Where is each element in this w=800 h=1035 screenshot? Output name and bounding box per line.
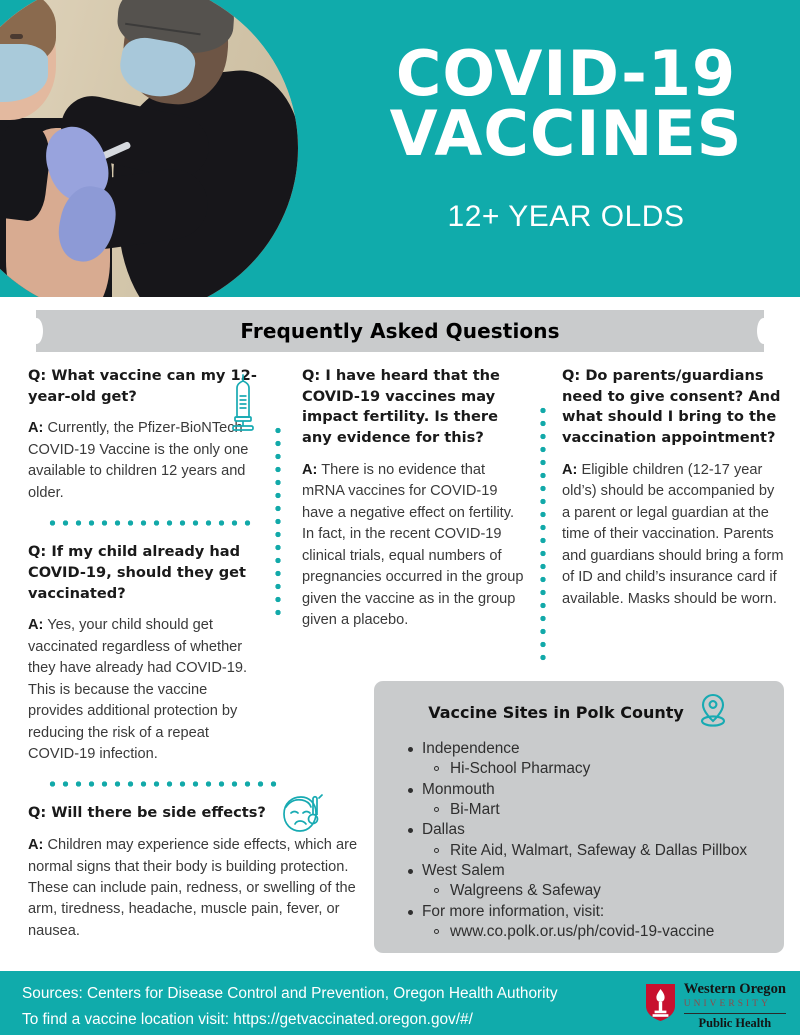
- list-item-link[interactable]: www.co.polk.or.us/ph/covid-19-vaccine: [406, 922, 774, 942]
- list-item: For more information, visit:: [406, 902, 774, 922]
- wou-logo: Western Oregon UNIVERSITY Public Health: [644, 982, 786, 1031]
- faq-answer: A: There is no evidence that mRNA vaccin…: [302, 460, 524, 632]
- vaccine-sites-panel: Vaccine Sites in Polk County Independenc…: [374, 681, 784, 953]
- dotted-divider-vertical: [540, 404, 546, 662]
- logo-name: Western Oregon: [684, 982, 786, 997]
- list-item: Walgreens & Safeway: [406, 881, 774, 901]
- footer-vaccine-locator-link[interactable]: To find a vaccine location visit: https:…: [22, 1007, 558, 1033]
- faq-column-2: Q: I have heard that the COVID-19 vaccin…: [302, 366, 524, 645]
- answer-text: There is no evidence that mRNA vaccines …: [302, 462, 523, 628]
- faq-block: Q: If my child already had COVID-19, sho…: [28, 542, 264, 765]
- faq-block: Q: I have heard that the COVID-19 vaccin…: [302, 366, 524, 631]
- vaccination-photo: [0, 0, 298, 297]
- page-subtitle: 12+ YEAR OLDS: [340, 200, 792, 234]
- answer-prefix: A:: [28, 420, 43, 436]
- faq-block: Q: Do parents/guardians need to give con…: [562, 366, 786, 610]
- answer-prefix: A:: [562, 462, 577, 478]
- ribbon-notch-left: [30, 318, 43, 344]
- faq-column-1: Q: What vaccine can my 12-year-old get? …: [28, 366, 264, 956]
- faq-question: Q: Do parents/guardians need to give con…: [562, 366, 786, 449]
- faq-answer: A: Yes, your child should get vaccinated…: [28, 615, 264, 765]
- list-item: Bi-Mart: [406, 800, 774, 820]
- syringe-icon: [228, 372, 258, 434]
- vaccine-sites-list: Independence Hi-School Pharmacy Monmouth…: [384, 739, 774, 942]
- footer-bar: Sources: Centers for Disease Control and…: [0, 971, 800, 1035]
- page-title-line1: COVID-19: [340, 44, 792, 104]
- dotted-divider-horizontal: [46, 781, 278, 787]
- list-item: Rite Aid, Walmart, Safeway & Dallas Pill…: [406, 841, 774, 861]
- list-item: Independence: [406, 739, 774, 759]
- list-item: West Salem: [406, 861, 774, 881]
- faq-question: Q: If my child already had COVID-19, sho…: [28, 542, 264, 604]
- shield-torch-icon: [644, 982, 677, 1022]
- logo-university: UNIVERSITY: [684, 997, 786, 1011]
- map-pin-icon: [696, 691, 730, 729]
- list-item: Dallas: [406, 820, 774, 840]
- answer-text: Eligible children (12-17 year old’s) sho…: [562, 462, 783, 607]
- list-item: Monmouth: [406, 780, 774, 800]
- sick-face-icon: [278, 792, 326, 838]
- list-item: Hi-School Pharmacy: [406, 759, 774, 779]
- header-banner: COVID-19 VACCINES 12+ YEAR OLDS: [0, 0, 800, 297]
- faq-banner: Frequently Asked Questions: [36, 310, 764, 352]
- dotted-divider-horizontal: [46, 520, 252, 526]
- faq-answer: A: Children may experience side effects,…: [28, 835, 358, 942]
- answer-prefix: A:: [28, 617, 43, 633]
- answer-text: Currently, the Pfizer-BioNTech COVID-19 …: [28, 420, 248, 500]
- ribbon-notch-right: [757, 318, 770, 344]
- answer-text: Yes, your child should get vaccinated re…: [28, 617, 247, 762]
- answer-prefix: A:: [28, 837, 43, 853]
- logo-department: Public Health: [684, 1016, 786, 1031]
- faq-banner-label: Frequently Asked Questions: [240, 319, 559, 343]
- footer-sources: Sources: Centers for Disease Control and…: [22, 981, 558, 1007]
- vaccine-sites-title: Vaccine Sites in Polk County: [428, 703, 684, 722]
- dotted-divider-vertical: [275, 424, 281, 620]
- faq-column-3: Q: Do parents/guardians need to give con…: [562, 366, 786, 624]
- page-title-line2: VACCINES: [340, 104, 792, 164]
- answer-prefix: A:: [302, 462, 317, 478]
- answer-text: Children may experience side effects, wh…: [28, 837, 357, 939]
- faq-question: Q: I have heard that the COVID-19 vaccin…: [302, 366, 524, 449]
- logo-divider: [684, 1013, 786, 1014]
- faq-answer: A: Eligible children (12-17 year old’s) …: [562, 460, 786, 610]
